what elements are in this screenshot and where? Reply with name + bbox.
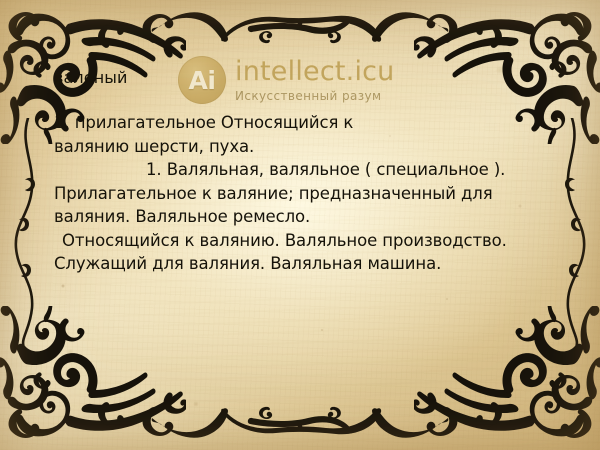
definition-line-1: 1. прилагательное Относящийся к <box>54 111 570 135</box>
definition-body: 1. прилагательное Относящийся к валянию … <box>54 111 570 276</box>
definition-line-7: Служащий для валяния. Валяльная машина. <box>54 252 570 276</box>
definition-line-3: 1. Валяльная, валяльное ( специальное ). <box>54 158 570 182</box>
slide-canvas: Ai intellect.icu Искусственный разум вал… <box>0 0 600 450</box>
headword: валеный <box>54 68 128 87</box>
definition-line-6: Относящийся к валянию. Валяльное произво… <box>54 229 570 253</box>
definition-line-5: валяния. Валяльное ремесло. <box>54 205 570 229</box>
definition-line-2: валянию шерсти, пуха. <box>54 135 570 159</box>
definition-line-4: Прилагательное к валяние; предназначенны… <box>54 182 570 206</box>
slide-content: валеный 1. прилагательное Относящийся к … <box>0 0 600 450</box>
